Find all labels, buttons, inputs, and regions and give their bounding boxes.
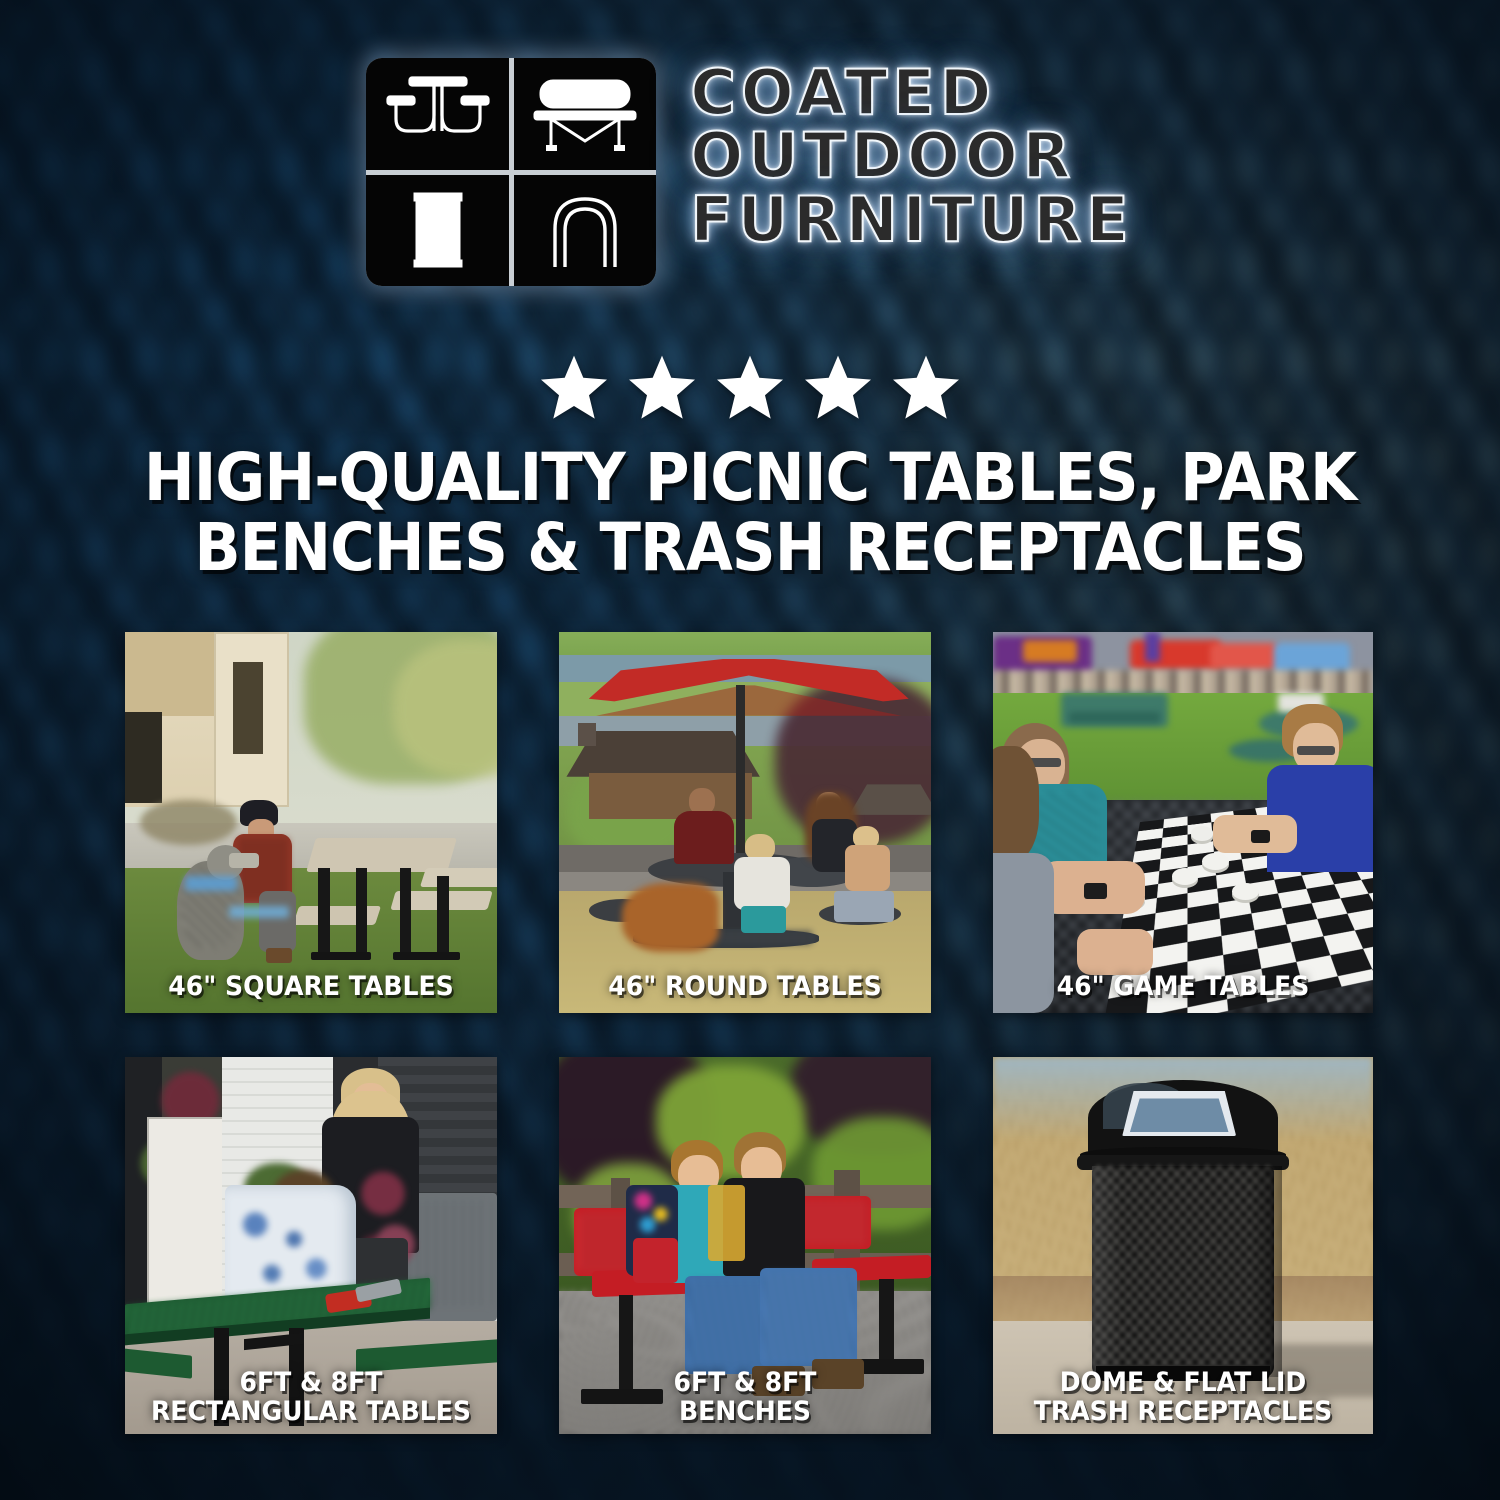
promo-banner: COATED OUTDOOR FURNITURE HIGH-QUALITY PI…: [0, 0, 1500, 1500]
caption-line-2: BENCHES: [578, 1398, 913, 1426]
star-icon-4: [801, 352, 875, 424]
product-tile-square-tables[interactable]: 46" SQUARE TABLES: [125, 632, 497, 1013]
caption-line-1: 6FT & 8FT: [578, 1369, 913, 1397]
product-tile-benches[interactable]: 6FT & 8FT BENCHES: [559, 1057, 931, 1434]
product-tile-game-tables[interactable]: 46" GAME TABLES: [993, 632, 1373, 1013]
brand-line-1: COATED: [690, 62, 1133, 123]
headline-line-1: HIGH-QUALITY PICNIC TABLES, PARK: [60, 443, 1440, 513]
caption-line-2: TRASH RECEPTACLES: [1012, 1398, 1354, 1426]
brand-line-2: OUTDOOR: [690, 125, 1133, 186]
product-caption: 6FT & 8FT RECTANGULAR TABLES: [138, 1369, 484, 1426]
brand-line-3: FURNITURE: [690, 189, 1133, 250]
star-icon-2: [625, 352, 699, 424]
trash-receptacle-icon: [366, 175, 509, 287]
page-title: HIGH-QUALITY PICNIC TABLES, PARK BENCHES…: [60, 443, 1440, 583]
star-icon-3: [713, 352, 787, 424]
star-icon-1: [537, 352, 611, 424]
caption-line-1: 46" GAME TABLES: [1012, 973, 1354, 1001]
caption-line-1: 46" SQUARE TABLES: [144, 973, 479, 1001]
product-grid: 46" SQUARE TABLES: [125, 632, 1375, 1434]
product-caption: 46" SQUARE TABLES: [138, 973, 484, 1001]
caption-line-1: DOME & FLAT LID: [1012, 1369, 1354, 1397]
caption-line-1: 6FT & 8FT: [144, 1369, 479, 1397]
product-caption: 6FT & 8FT BENCHES: [572, 1369, 918, 1426]
bench-icon: [514, 58, 657, 170]
picnic-table-icon: [366, 58, 509, 170]
headline-line-2: BENCHES & TRASH RECEPTACLES: [60, 513, 1440, 583]
photo-round-tables: [559, 632, 931, 1013]
product-caption: 46" GAME TABLES: [1006, 973, 1359, 1001]
caption-line-1: 46" ROUND TABLES: [578, 973, 913, 1001]
star-rating: [0, 352, 1500, 424]
logo-mark: [366, 58, 656, 286]
brand-header: COATED OUTDOOR FURNITURE: [0, 58, 1500, 286]
brand-wordmark: COATED OUTDOOR FURNITURE: [690, 58, 1133, 250]
photo-game-tables: [993, 632, 1373, 1013]
star-icon-5: [889, 352, 963, 424]
product-tile-rectangular-tables[interactable]: 6FT & 8FT RECTANGULAR TABLES: [125, 1057, 497, 1434]
product-tile-round-tables[interactable]: 46" ROUND TABLES: [559, 632, 931, 1013]
dome-lid-icon: [514, 175, 657, 287]
product-tile-trash-receptacles[interactable]: DOME & FLAT LID TRASH RECEPTACLES: [993, 1057, 1373, 1434]
product-caption: DOME & FLAT LID TRASH RECEPTACLES: [1006, 1369, 1359, 1426]
photo-square-tables: [125, 632, 497, 1013]
product-caption: 46" ROUND TABLES: [572, 973, 918, 1001]
caption-line-2: RECTANGULAR TABLES: [144, 1398, 479, 1426]
